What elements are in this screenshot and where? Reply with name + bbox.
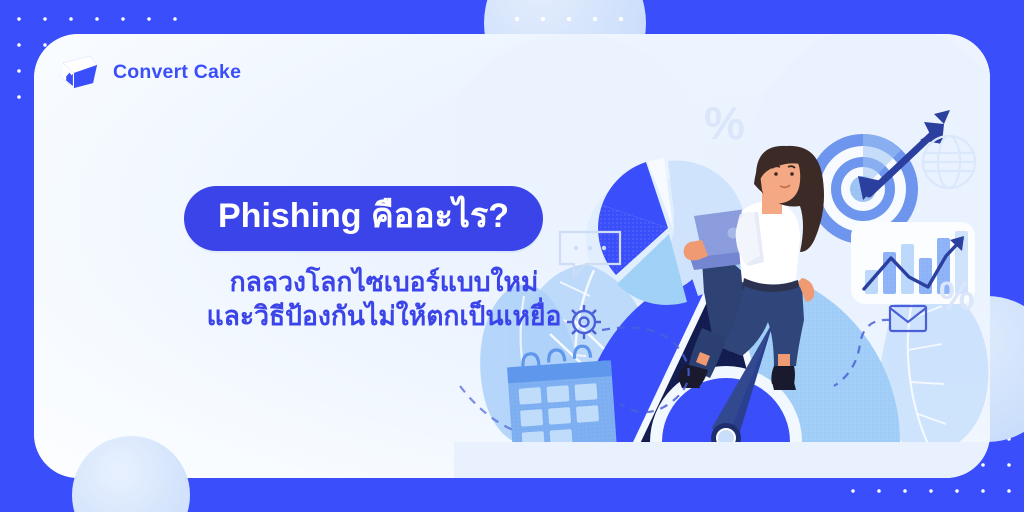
percent-symbol-1: % bbox=[704, 96, 745, 150]
page-title: Phishing คืออะไร? bbox=[184, 186, 543, 251]
percent-symbol-2: % bbox=[939, 274, 975, 319]
dashed-arc-bottom-left bbox=[460, 386, 518, 432]
envelope-icon bbox=[890, 306, 926, 331]
content-card: Convert Cake bbox=[34, 34, 990, 478]
brand-logo[interactable]: Convert Cake bbox=[60, 54, 241, 90]
dashed-path-right bbox=[834, 320, 890, 386]
hero-text-block: Phishing คืออะไร? กลลวงโลกไซเบอร์แบบใหม่… bbox=[184, 186, 604, 334]
brand-name: Convert Cake bbox=[113, 61, 241, 84]
subtitle-line-2: และวิธีป้องกันไม่ให้ตกเป็นเหยื่อ bbox=[184, 299, 584, 333]
ground-strip bbox=[454, 442, 990, 478]
dashed-path-left bbox=[602, 328, 689, 413]
page-subtitle: กลลวงโลกไซเบอร์แบบใหม่ และวิธีป้องกันไม่… bbox=[184, 265, 584, 334]
banner-stage: Convert Cake bbox=[0, 0, 1024, 512]
subtitle-line-1: กลลวงโลกไซเบอร์แบบใหม่ bbox=[184, 265, 584, 299]
paper-plane-icon bbox=[60, 54, 100, 90]
